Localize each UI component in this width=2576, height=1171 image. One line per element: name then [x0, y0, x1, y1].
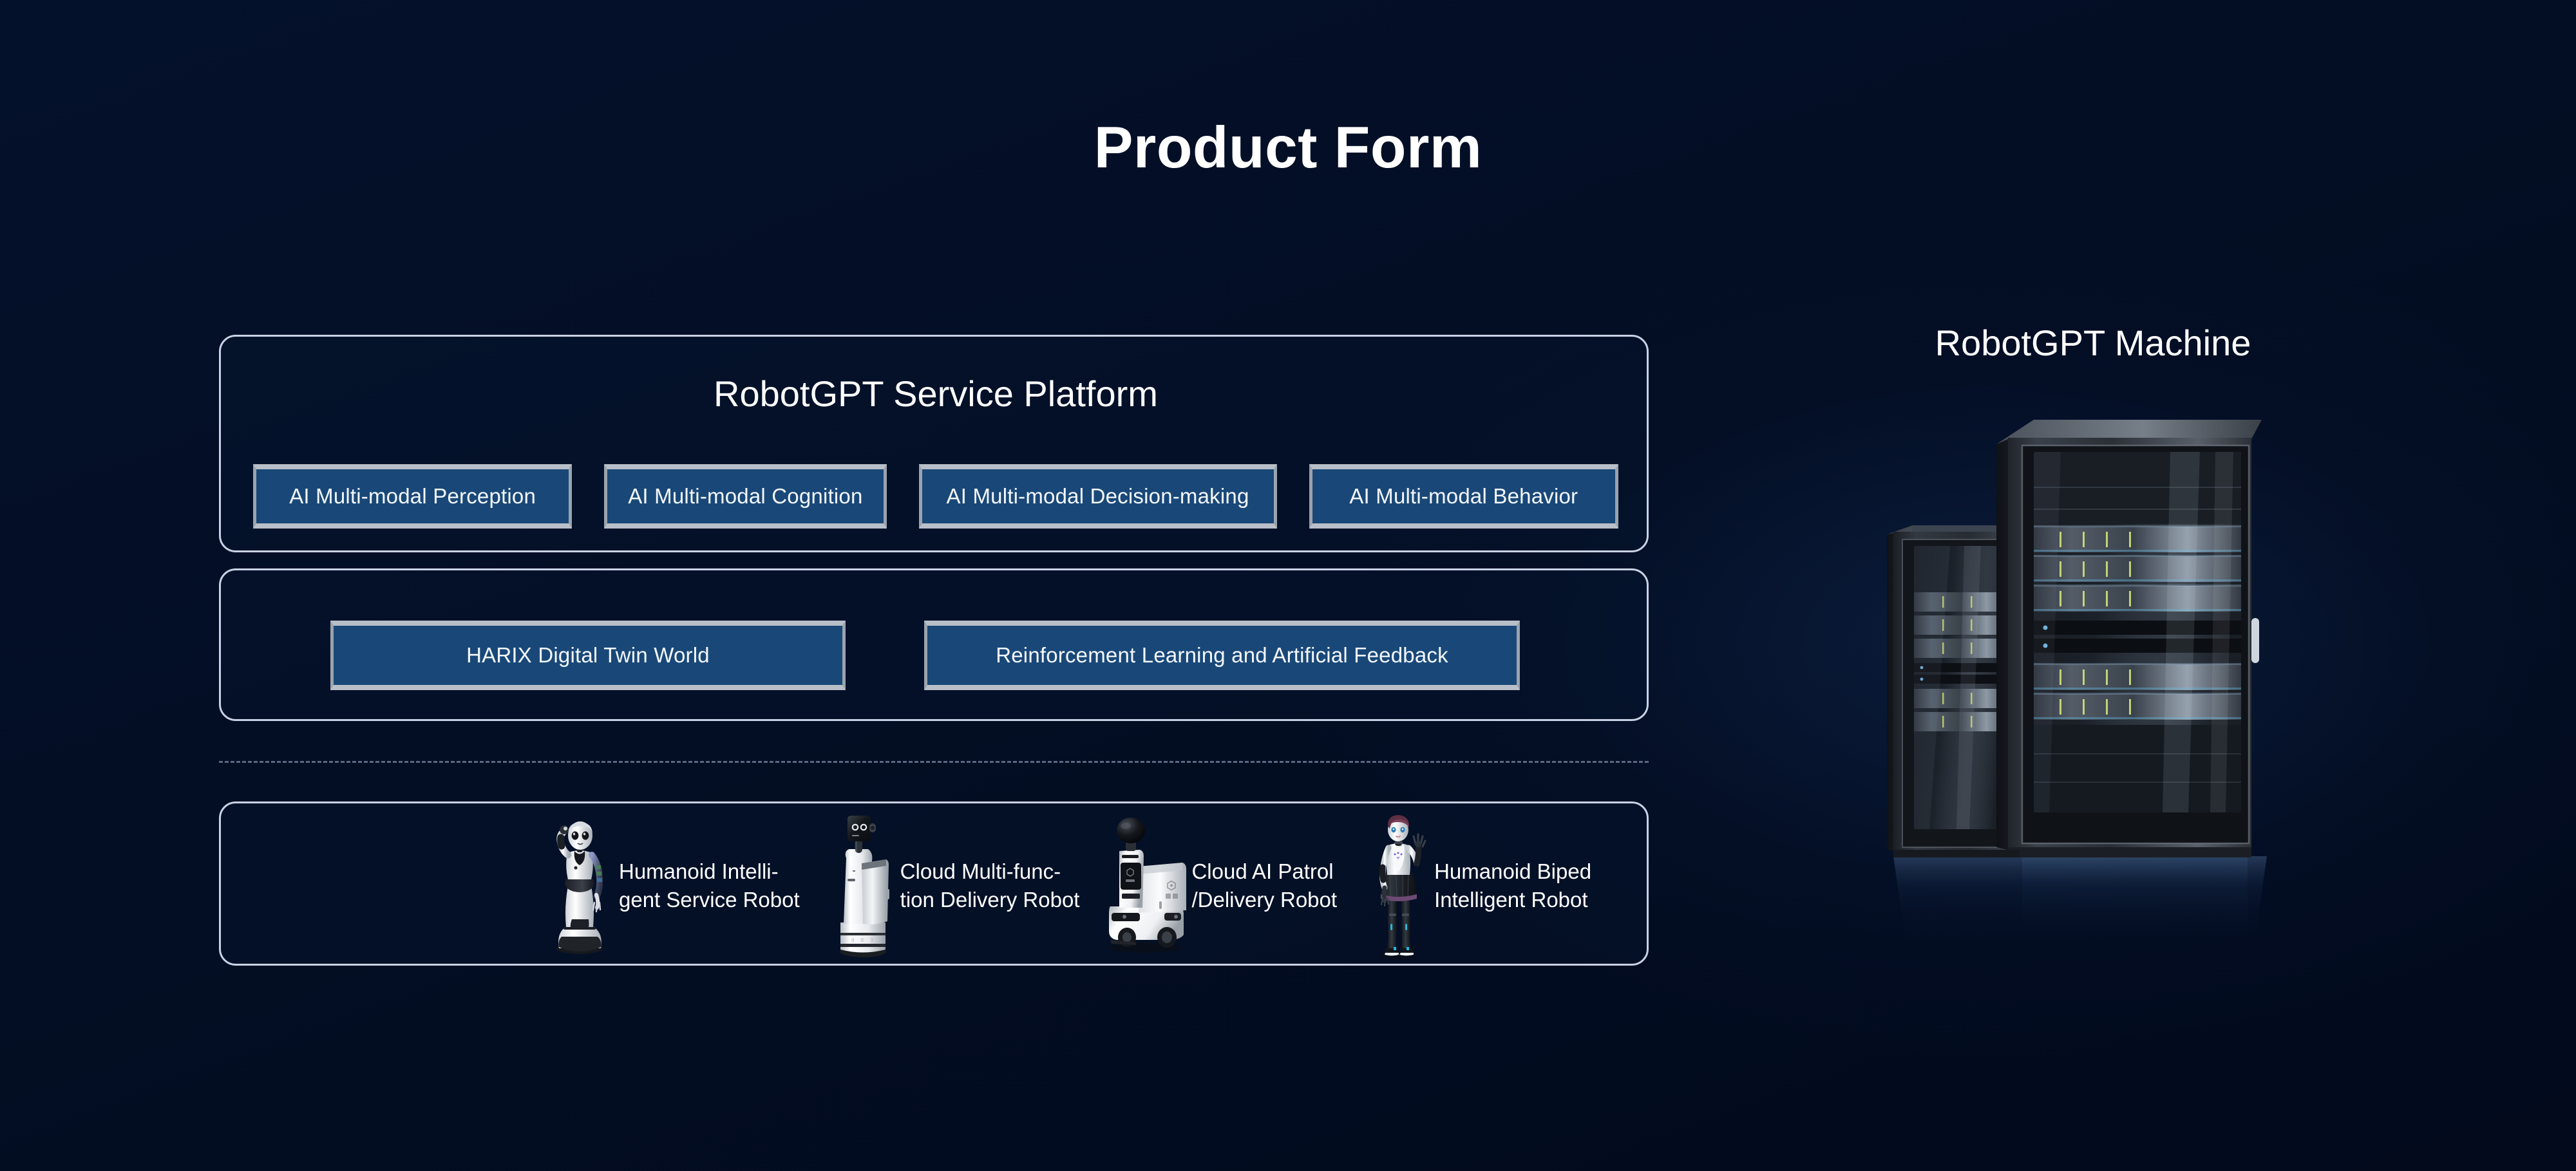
capability-chip-row: AI Multi-modal Perception AI Multi-modal… [253, 464, 1618, 529]
biped-humanoid-robot-icon [1368, 812, 1429, 960]
svg-text:8 8 3: 8 8 3 [851, 937, 876, 943]
machine-column: RobotGPT Machine [1848, 322, 2338, 1094]
capability-chip-behavior[interactable]: AI Multi-modal Behavior [1309, 464, 1619, 529]
infrastructure-chip-harix-digital-twin[interactable]: HARIX Digital Twin World [330, 621, 846, 690]
server-rack-icon [1868, 406, 2318, 1049]
platform-heading: RobotGPT Service Platform [221, 373, 1651, 415]
list-item-label: Cloud AI Patrol /Delivery Robot [1191, 857, 1337, 913]
platform-panel: RobotGPT Service Platform AI Multi-modal… [219, 335, 1649, 552]
infrastructure-panel: HARIX Digital Twin World Reinforcement L… [219, 568, 1649, 721]
robots-panel: Humanoid Intelli- gent Service Robot [219, 801, 1649, 966]
infrastructure-chip-row: HARIX Digital Twin World Reinforcement L… [330, 621, 1541, 690]
list-item[interactable]: Humanoid Biped Intelligent Robot [1368, 803, 1591, 968]
infrastructure-chip-reinforcement-learning[interactable]: Reinforcement Learning and Artificial Fe… [924, 621, 1520, 690]
capability-chip-cognition[interactable]: AI Multi-modal Cognition [604, 464, 886, 529]
capability-chip-decision-making[interactable]: AI Multi-modal Decision-making [919, 464, 1277, 529]
patrol-delivery-robot-icon [1103, 816, 1186, 955]
list-item[interactable]: 8 8 3 [831, 803, 1080, 968]
cloud-delivery-robot-icon: 8 8 3 [831, 813, 895, 958]
list-item[interactable]: Cloud AI Patrol /Delivery Robot [1103, 803, 1337, 968]
list-item[interactable]: Humanoid Intelli- gent Service Robot [546, 803, 800, 968]
machine-heading: RobotGPT Machine [1848, 322, 2338, 364]
section-divider [219, 761, 1649, 763]
list-item-label: Cloud Multi-func- tion Delivery Robot [900, 857, 1080, 913]
left-column: RobotGPT Service Platform AI Multi-modal… [219, 335, 1649, 966]
humanoid-service-robot-icon [546, 816, 614, 955]
list-item-label: Humanoid Biped Intelligent Robot [1434, 857, 1591, 913]
robot-list: Humanoid Intelli- gent Service Robot [256, 803, 1615, 968]
list-item-label: Humanoid Intelli- gent Service Robot [619, 857, 800, 913]
capability-chip-perception[interactable]: AI Multi-modal Perception [253, 464, 572, 529]
page-title: Product Form [0, 115, 2576, 182]
